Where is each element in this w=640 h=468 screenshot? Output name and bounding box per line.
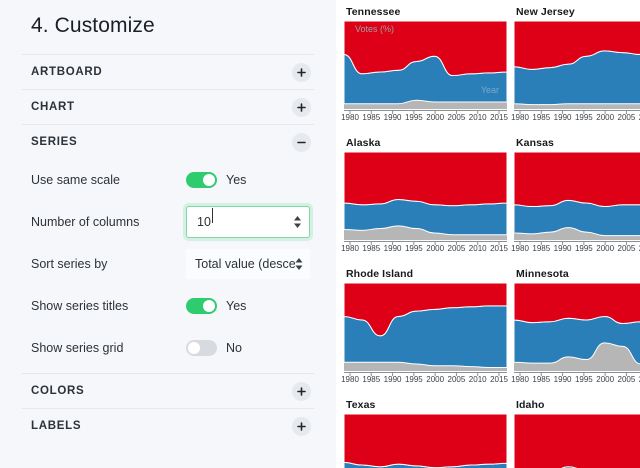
toggle-knob <box>203 300 215 312</box>
chart-plot <box>514 21 640 109</box>
x-tick-label: 2015 <box>490 244 508 253</box>
x-tick-label: 1985 <box>532 244 550 253</box>
x-tick-label: 2000 <box>596 244 614 253</box>
x-tick-label: 1985 <box>532 113 550 122</box>
x-tick-label: 2015 <box>490 113 508 122</box>
plus-icon[interactable] <box>292 63 311 82</box>
x-tick-label: 1990 <box>554 113 572 122</box>
chart-cell-title: Texas <box>344 399 514 414</box>
x-tick-label: 1980 <box>341 244 359 253</box>
x-tick-label: 1980 <box>511 113 529 122</box>
x-tick-label: 2005 <box>618 375 636 384</box>
chart-cell[interactable]: Texas19801985199019952000200520102015 <box>344 399 514 468</box>
chart-cell-title: New Jersey <box>514 6 640 21</box>
x-tick-label: 1980 <box>511 375 529 384</box>
use-same-scale-toggle[interactable] <box>186 172 217 188</box>
x-tick-label: 1985 <box>362 375 380 384</box>
section-labels-label: LABELS <box>31 420 81 432</box>
chart-plot <box>514 414 640 468</box>
chart-plot <box>514 283 640 371</box>
x-tick-label: 2005 <box>448 375 466 384</box>
chart-cell[interactable]: TennesseeVotes (%)Year198019851990199520… <box>344 6 514 137</box>
section-series[interactable]: SERIES <box>22 124 314 159</box>
chart-plot <box>344 152 507 240</box>
toggle-knob <box>188 342 200 354</box>
x-tick-label: 2000 <box>426 244 444 253</box>
x-tick-label: 2000 <box>426 113 444 122</box>
sort-series-by-select[interactable]: Total value (desce <box>186 249 310 279</box>
x-tick-label: 2010 <box>469 375 487 384</box>
chart-cell-title: Rhode Island <box>344 268 514 283</box>
x-tick-label: 1990 <box>554 244 572 253</box>
plus-icon[interactable] <box>292 382 311 401</box>
chart-cell[interactable]: Idaho19801985199019952000200520102015 <box>514 399 640 468</box>
chart-cell[interactable]: Alaska19801985199019952000200520102015 <box>344 137 514 268</box>
show-series-titles-value: Yes <box>226 299 246 313</box>
x-tick-label: 1980 <box>341 113 359 122</box>
x-tick-label: 1980 <box>341 375 359 384</box>
sort-series-by-label: Sort series by <box>31 257 186 271</box>
number-of-columns-value: 10 <box>197 215 293 229</box>
chart-cell-title: Kansas <box>514 137 640 152</box>
x-axis-label: Year <box>481 85 499 95</box>
sort-series-by-value: Total value (desce <box>195 257 295 271</box>
chart-cell-title: Idaho <box>514 399 640 414</box>
use-same-scale-value: Yes <box>226 173 246 187</box>
plus-icon[interactable] <box>292 417 311 436</box>
section-artboard[interactable]: ARTBOARD <box>22 54 314 89</box>
section-chart[interactable]: CHART <box>22 89 314 124</box>
chart-plot: Votes (%)Year <box>344 21 507 109</box>
x-tick-label: 2005 <box>448 113 466 122</box>
x-tick-label: 1990 <box>384 113 402 122</box>
control-use-same-scale: Use same scale Yes <box>22 159 314 201</box>
chart-cell[interactable]: Kansas19801985199019952000200520102015 <box>514 137 640 268</box>
x-tick-label: 1995 <box>405 244 423 253</box>
section-labels[interactable]: LABELS <box>22 408 314 443</box>
control-sort-series-by: Sort series by Total value (desce <box>22 243 314 285</box>
x-axis-ticks: 19801985199019952000200520102015 <box>514 241 640 254</box>
plus-icon[interactable] <box>292 98 311 117</box>
chart-cell-title: Minnesota <box>514 268 640 283</box>
chart-preview[interactable]: TennesseeVotes (%)Year198019851990199520… <box>336 0 640 468</box>
x-tick-label: 2015 <box>490 375 508 384</box>
x-tick-label: 1985 <box>362 244 380 253</box>
x-tick-label: 2005 <box>618 244 636 253</box>
x-tick-label: 2000 <box>426 375 444 384</box>
control-show-series-titles: Show series titles Yes <box>22 285 314 327</box>
x-tick-label: 1985 <box>532 375 550 384</box>
x-tick-label: 2010 <box>469 113 487 122</box>
chart-cell-title: Alaska <box>344 137 514 152</box>
customize-panel: 4. Customize ARTBOARD CHART SERIES Use s… <box>0 0 336 468</box>
x-tick-label: 2005 <box>448 244 466 253</box>
number-of-columns-label: Number of columns <box>31 215 186 229</box>
show-series-titles-toggle[interactable] <box>186 298 217 314</box>
chart-cell[interactable]: New Jersey198019851990199520002005201020… <box>514 6 640 137</box>
chart-cell[interactable]: Minnesota1980198519901995200020052010201… <box>514 268 640 399</box>
x-tick-label: 1995 <box>575 113 593 122</box>
x-axis-ticks: 19801985199019952000200520102015 <box>514 372 640 385</box>
x-tick-label: 1990 <box>384 375 402 384</box>
x-tick-label: 1995 <box>575 375 593 384</box>
x-tick-label: 2000 <box>596 113 614 122</box>
toggle-knob <box>203 174 215 186</box>
chart-cell[interactable]: Rhode Island1980198519901995200020052010… <box>344 268 514 399</box>
chart-plot <box>344 414 507 468</box>
chart-plot <box>344 283 507 371</box>
x-tick-label: 1980 <box>511 244 529 253</box>
x-axis-ticks: 19801985199019952000200520102015 <box>514 110 640 123</box>
minus-icon[interactable] <box>292 133 311 152</box>
number-of-columns-input[interactable]: 10 <box>186 206 310 238</box>
x-tick-label: 1995 <box>575 244 593 253</box>
section-colors-label: COLORS <box>31 385 84 397</box>
x-axis-ticks: 19801985199019952000200520102015 <box>344 110 507 123</box>
stepper-icon[interactable] <box>293 216 302 228</box>
x-tick-label: 1985 <box>362 113 380 122</box>
y-axis-label: Votes (%) <box>355 24 394 34</box>
page-title: 4. Customize <box>22 0 314 54</box>
x-tick-label: 2010 <box>469 244 487 253</box>
x-tick-label: 1995 <box>405 113 423 122</box>
show-series-grid-label: Show series grid <box>31 341 186 355</box>
x-axis-ticks: 19801985199019952000200520102015 <box>344 372 507 385</box>
chart-cell-title: Tennessee <box>344 6 514 21</box>
section-series-label: SERIES <box>31 136 77 148</box>
control-number-of-columns: Number of columns 10 <box>22 201 314 243</box>
section-chart-label: CHART <box>31 101 75 113</box>
control-show-series-grid: Show series grid No <box>22 327 314 369</box>
show-series-grid-value: No <box>226 341 242 355</box>
chart-plot <box>514 152 640 240</box>
x-tick-label: 1995 <box>405 375 423 384</box>
x-tick-label: 2005 <box>618 113 636 122</box>
section-colors[interactable]: COLORS <box>22 373 314 408</box>
show-series-titles-label: Show series titles <box>31 299 186 313</box>
section-artboard-label: ARTBOARD <box>31 66 102 78</box>
show-series-grid-toggle[interactable] <box>186 340 217 356</box>
x-axis-ticks: 19801985199019952000200520102015 <box>344 241 507 254</box>
x-tick-label: 1990 <box>384 244 402 253</box>
x-tick-label: 2000 <box>596 375 614 384</box>
select-arrows-icon[interactable] <box>295 258 303 270</box>
small-multiples-grid: TennesseeVotes (%)Year198019851990199520… <box>344 6 640 468</box>
use-same-scale-label: Use same scale <box>31 173 186 187</box>
x-tick-label: 1990 <box>554 375 572 384</box>
